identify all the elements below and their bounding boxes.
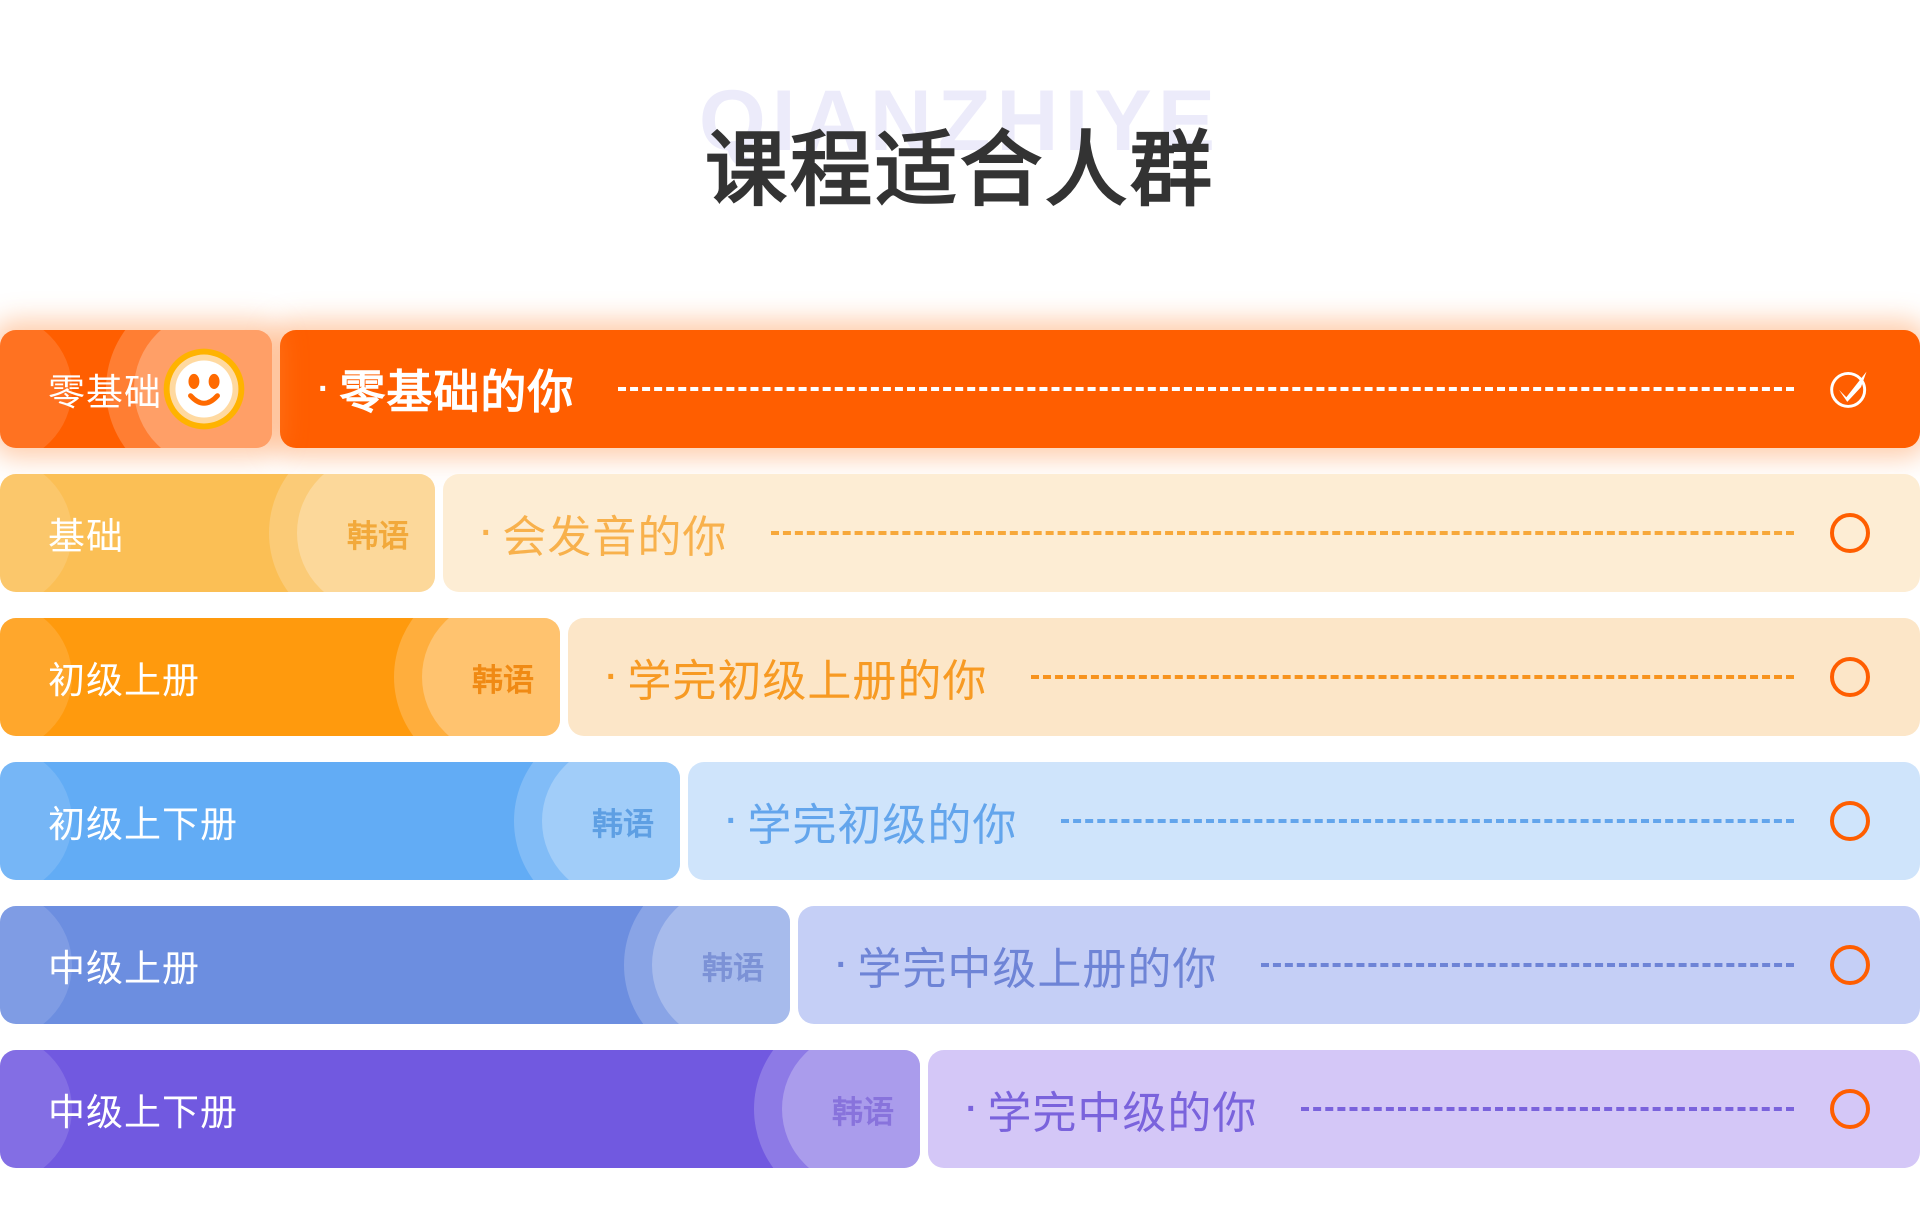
bullet-icon: · <box>443 516 502 550</box>
description-panel[interactable]: ·零基础的你 <box>280 330 1920 448</box>
level-badge-label: 零基础 <box>0 362 162 416</box>
level-badge[interactable]: 零基础 <box>0 330 272 448</box>
bullet-icon: · <box>568 660 627 694</box>
header: QIANZHIYE 课程适合人群 <box>0 0 1920 258</box>
level-badge-label: 中级上下册 <box>0 1082 238 1136</box>
description-text: 零基础的你 <box>339 356 574 422</box>
bullet-icon: · <box>798 948 857 982</box>
level-row[interactable]: 零基础·零基础的你 <box>0 330 1920 448</box>
dashed-connector <box>1301 1107 1794 1111</box>
status-indicator[interactable] <box>1828 943 1872 987</box>
empty-circle-icon <box>1830 945 1870 985</box>
language-tag: 韩语 <box>329 511 435 556</box>
dashed-connector <box>1261 963 1794 967</box>
bullet-icon: · <box>928 1092 987 1126</box>
page-title: 课程适合人群 <box>0 130 1920 212</box>
description-panel[interactable]: ·学完中级上册的你 <box>798 906 1920 1024</box>
level-badge-label: 中级上册 <box>0 938 200 992</box>
course-audience-infographic: QIANZHIYE 课程适合人群 零基础·零基础的你基础韩语·会发音的你初级上册… <box>0 0 1920 1230</box>
language-tag: 韩语 <box>814 1087 920 1132</box>
dashed-connector <box>1031 675 1794 679</box>
status-indicator[interactable] <box>1828 511 1872 555</box>
level-row[interactable]: 初级上下册韩语·学完初级的你 <box>0 762 1920 880</box>
description-panel[interactable]: ·学完中级的你 <box>928 1050 1920 1168</box>
level-badge[interactable]: 中级上下册韩语 <box>0 1050 920 1168</box>
description-panel[interactable]: ·会发音的你 <box>443 474 1920 592</box>
dashed-connector <box>771 531 1794 535</box>
language-tag: 韩语 <box>454 655 560 700</box>
description-text: 会发音的你 <box>502 501 727 565</box>
bullet-icon: · <box>688 804 747 838</box>
level-row[interactable]: 中级上册韩语·学完中级上册的你 <box>0 906 1920 1024</box>
bullet-icon: · <box>280 372 339 406</box>
description-text: 学完中级的你 <box>987 1077 1257 1141</box>
smiley-face-icon <box>162 347 246 431</box>
check-circle-icon <box>1828 366 1872 412</box>
empty-circle-icon <box>1830 513 1870 553</box>
status-indicator[interactable] <box>1828 799 1872 843</box>
description-text: 学完中级上册的你 <box>857 933 1217 997</box>
description-text: 学完初级上册的你 <box>627 645 987 709</box>
level-row[interactable]: 初级上册韩语·学完初级上册的你 <box>0 618 1920 736</box>
dashed-connector <box>618 387 1794 391</box>
description-panel[interactable]: ·学完初级的你 <box>688 762 1920 880</box>
level-badge[interactable]: 初级上册韩语 <box>0 618 560 736</box>
level-badge-label: 基础 <box>0 506 124 560</box>
dashed-connector <box>1061 819 1794 823</box>
smiley-face-icon-wrap <box>162 347 246 431</box>
level-row[interactable]: 基础韩语·会发音的你 <box>0 474 1920 592</box>
level-row[interactable]: 中级上下册韩语·学完中级的你 <box>0 1050 1920 1168</box>
level-badge-label: 初级上下册 <box>0 794 238 848</box>
status-indicator[interactable] <box>1828 655 1872 699</box>
level-badge-label: 初级上册 <box>0 650 200 704</box>
level-row-list: 零基础·零基础的你基础韩语·会发音的你初级上册韩语·学完初级上册的你初级上下册韩… <box>0 330 1920 1194</box>
empty-circle-icon <box>1830 1089 1870 1129</box>
level-badge[interactable]: 中级上册韩语 <box>0 906 790 1024</box>
status-indicator[interactable] <box>1828 1087 1872 1131</box>
status-indicator[interactable] <box>1828 367 1872 411</box>
empty-circle-icon <box>1830 657 1870 697</box>
level-badge[interactable]: 基础韩语 <box>0 474 435 592</box>
level-badge[interactable]: 初级上下册韩语 <box>0 762 680 880</box>
empty-circle-icon <box>1830 801 1870 841</box>
language-tag: 韩语 <box>574 799 680 844</box>
description-text: 学完初级的你 <box>747 789 1017 853</box>
description-panel[interactable]: ·学完初级上册的你 <box>568 618 1920 736</box>
language-tag: 韩语 <box>684 943 790 988</box>
